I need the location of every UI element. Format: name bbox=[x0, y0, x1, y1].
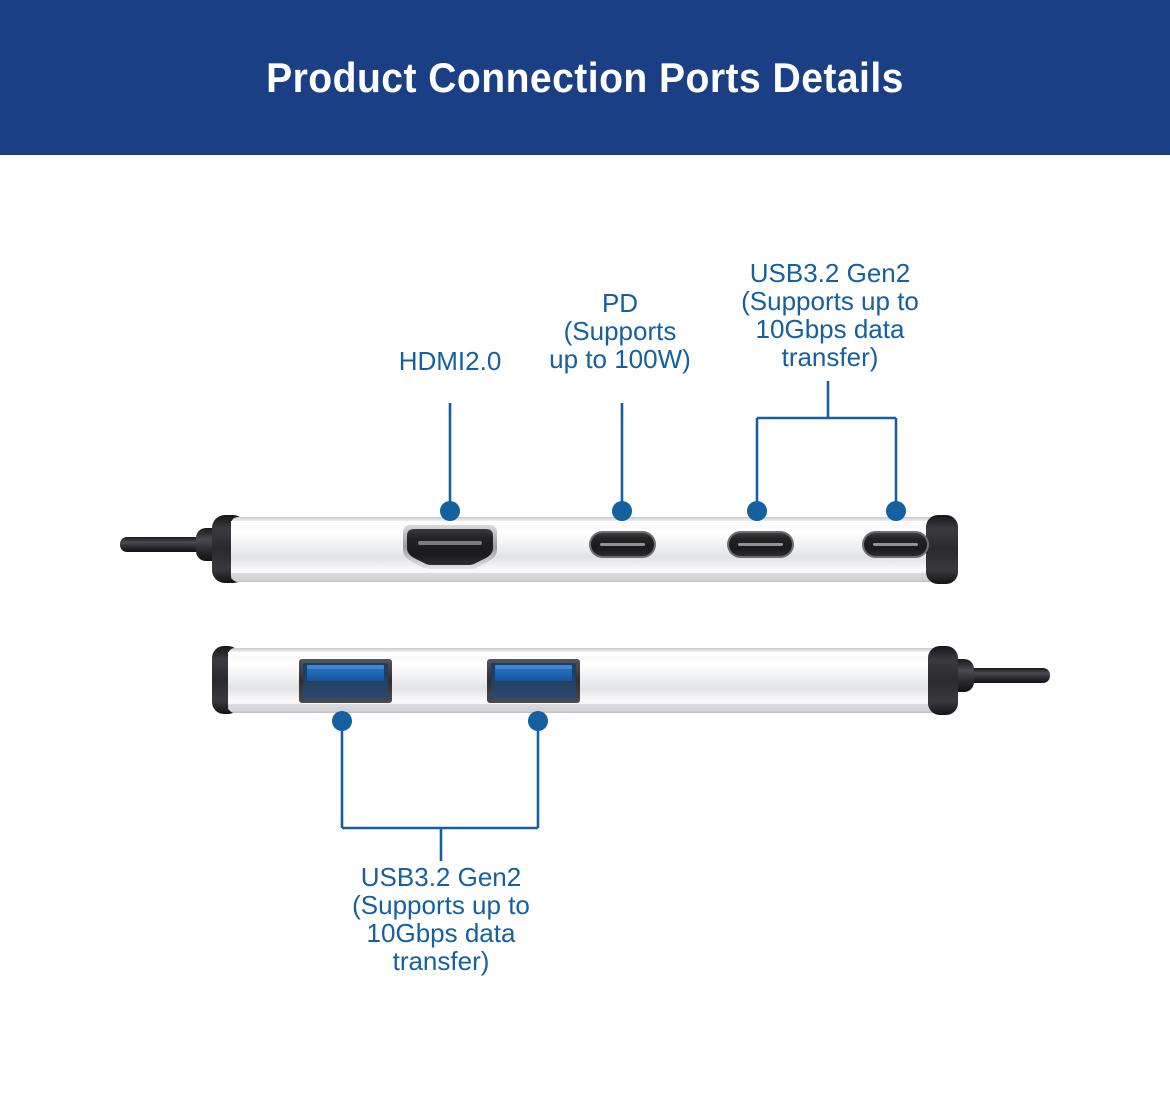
usb-c-port-data-2 bbox=[862, 531, 929, 558]
usb-c-port-pd bbox=[589, 531, 656, 558]
usb-a-port-2 bbox=[487, 659, 580, 703]
hub-front-view bbox=[120, 515, 958, 584]
marker-usba-right bbox=[528, 711, 548, 731]
hdmi-contact-bar bbox=[418, 541, 482, 545]
marker-usbc-right bbox=[886, 501, 906, 521]
marker-usba-left bbox=[332, 711, 352, 731]
marker-hdmi bbox=[440, 501, 460, 521]
hub-rear-view bbox=[212, 646, 1050, 715]
product-diagram: HDMI2.0 PD (Supports up to 100W) USB3.2 … bbox=[0, 155, 1170, 1113]
body-highlight-bottom bbox=[228, 652, 940, 656]
body-highlight-top bbox=[231, 521, 941, 525]
marker-pd bbox=[612, 501, 632, 521]
hdmi-port bbox=[403, 525, 497, 569]
marker-usbc-left bbox=[747, 501, 767, 521]
header-bar: Product Connection Ports Details bbox=[0, 0, 1170, 155]
callout-label-usb-c-data: USB3.2 Gen2 (Supports up to 10Gbps data … bbox=[708, 259, 952, 371]
body-shadow-bottom bbox=[228, 704, 940, 710]
usb-a-port-1 bbox=[299, 659, 392, 703]
body-shadow-top bbox=[231, 573, 941, 579]
page-title: Product Connection Ports Details bbox=[41, 0, 1129, 155]
device-body-top bbox=[231, 517, 941, 582]
usb-c-port-data-1 bbox=[727, 531, 794, 558]
end-cap-right-bottom bbox=[928, 646, 958, 715]
callout-lines bbox=[342, 381, 896, 861]
end-cap-right-top bbox=[926, 515, 958, 584]
callout-label-pd: PD (Supports up to 100W) bbox=[500, 289, 740, 373]
callout-label-usb-a-data: USB3.2 Gen2 (Supports up to 10Gbps data … bbox=[321, 863, 561, 975]
